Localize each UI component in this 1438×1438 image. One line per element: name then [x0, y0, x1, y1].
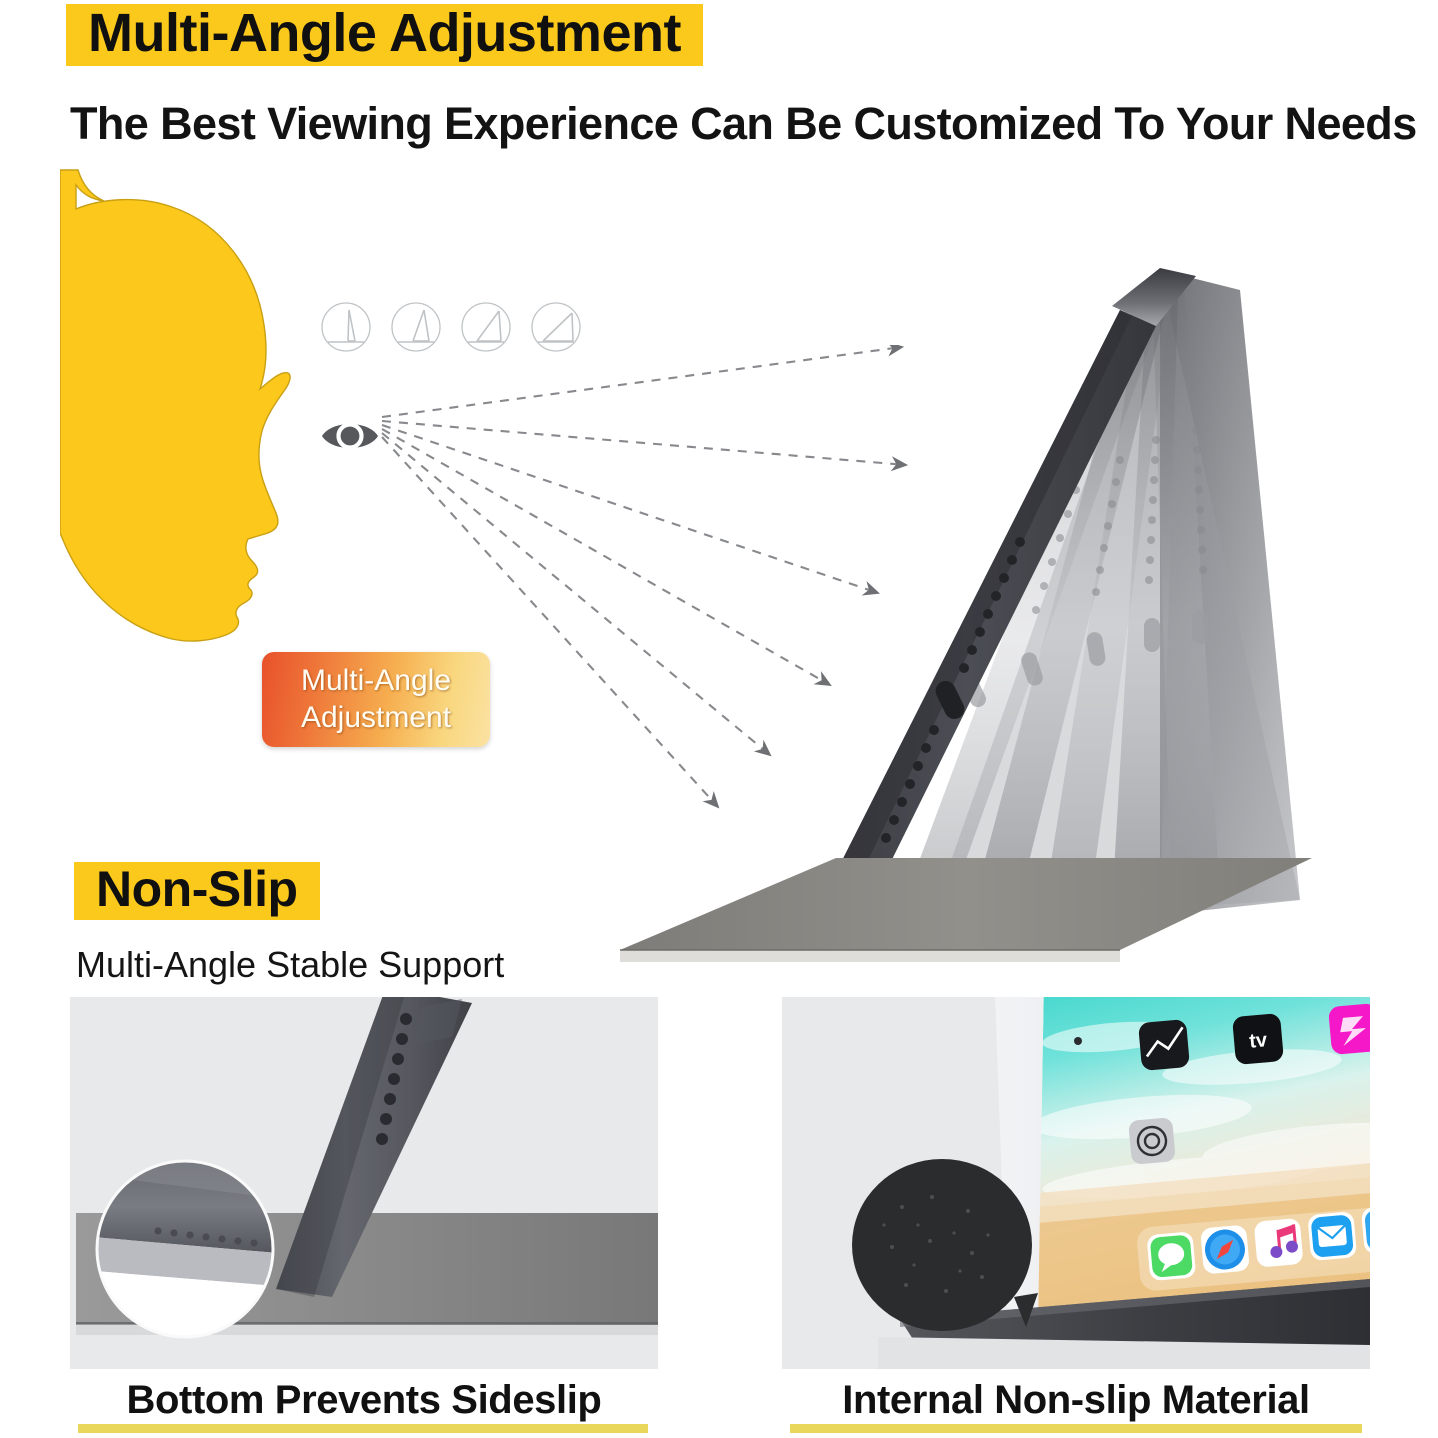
hero-illustration: Multi-Angle Adjustment	[0, 165, 1438, 965]
title-highlight: Multi-Angle Adjustment	[66, 4, 703, 66]
settings-app-icon	[1128, 1117, 1176, 1165]
nonslip-title-bar: Non-Slip	[74, 862, 320, 920]
apple-tv-app-icon: tv	[1232, 1013, 1284, 1065]
badge-line-2: Adjustment	[301, 700, 451, 737]
sideslip-photo	[70, 997, 658, 1369]
stand-angle-icon-1	[318, 299, 374, 355]
page-title: Multi-Angle Adjustment	[88, 3, 681, 63]
page-title-bar: Multi-Angle Adjustment	[66, 4, 703, 66]
nonslip-title: Non-Slip	[96, 861, 298, 917]
face-profile-silhouette-icon	[60, 165, 360, 665]
nonslip-subtitle: Multi-Angle Stable Support	[76, 944, 504, 986]
panel-internal-non-slip-material: tv	[782, 997, 1370, 1369]
stocks-app-icon	[1138, 1019, 1190, 1071]
eye-icon	[320, 414, 380, 458]
tablet-angle-stack-illustration	[600, 260, 1360, 965]
nonslip-material-photo: tv	[782, 997, 1370, 1369]
caption-rule-left	[78, 1424, 648, 1433]
panel-bottom-prevents-sideslip	[70, 997, 658, 1369]
badge-line-1: Multi-Angle	[301, 663, 451, 700]
svg-text:tv: tv	[1248, 1029, 1269, 1053]
caption-bottom-prevents-sideslip: Bottom Prevents Sideslip	[70, 1378, 658, 1423]
caption-internal-non-slip-material: Internal Non-slip Material	[782, 1378, 1370, 1423]
multi-angle-adjustment-badge: Multi-Angle Adjustment	[262, 652, 490, 747]
photos-app-icon	[1328, 1003, 1370, 1055]
caption-rule-right	[790, 1424, 1362, 1433]
page-subtitle: The Best Viewing Experience Can Be Custo…	[70, 98, 1390, 150]
nonslip-highlight: Non-Slip	[74, 862, 320, 920]
